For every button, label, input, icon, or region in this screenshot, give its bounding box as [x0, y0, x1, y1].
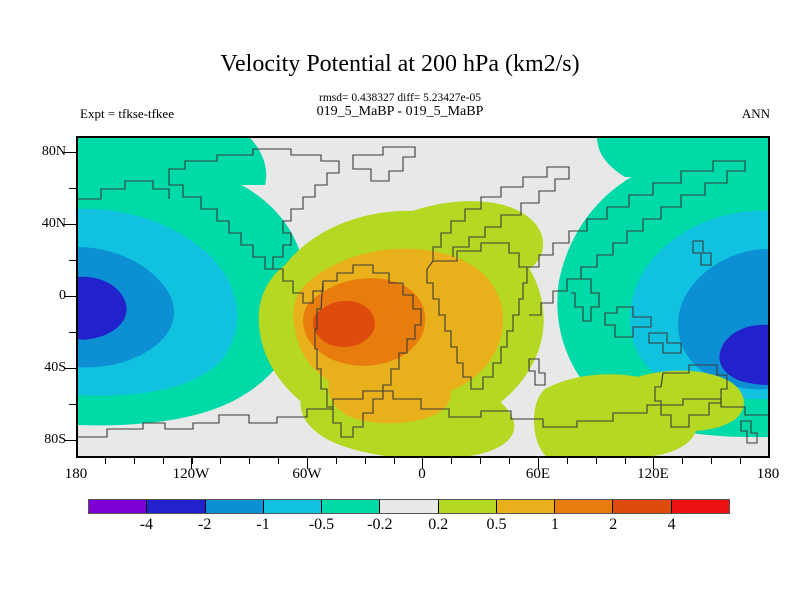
colorbar [88, 499, 730, 514]
xlabel-180w: 180 [65, 466, 88, 482]
xtick-minor [567, 457, 568, 464]
colorbar-tick-label: 0.2 [428, 516, 448, 534]
xtick-minor [278, 457, 279, 464]
velocity-potential-figure: Velocity Potential at 200 hPa (km2/s) rm… [0, 0, 800, 600]
xlabel-60e: 60E [526, 466, 550, 482]
ylabel-0: 0 [59, 289, 66, 303]
xlabel-120w: 120W [173, 466, 210, 482]
xtick-minor [596, 457, 597, 464]
ylabel-40n: 40N [42, 217, 66, 231]
season-label: ANN [742, 106, 770, 122]
ylabel-40s: 40S [44, 361, 66, 375]
colorbar-swatch [671, 500, 729, 513]
xlabel-60w: 60W [292, 466, 321, 482]
colorbar-tick-label: 2 [609, 516, 617, 534]
xlabel-180e: 180 [757, 466, 780, 482]
map-plot-area [76, 136, 770, 458]
xtick-minor [480, 457, 481, 464]
colorbar-swatch [554, 500, 612, 513]
colorbar-tick-label: 0.5 [487, 516, 507, 534]
colorbar-tick-label: -2 [198, 516, 211, 534]
xtick-minor [365, 457, 366, 464]
xlabel-0: 0 [418, 466, 426, 482]
xlabel-120e: 120E [637, 466, 669, 482]
colorbar-tick-label: 4 [668, 516, 676, 534]
experiment-label: Expt = tfkse-tfkee [80, 106, 174, 122]
colorbar-swatch [438, 500, 496, 513]
colorbar-tick-label: 1 [551, 516, 559, 534]
xtick-minor [740, 457, 741, 464]
ylabel-80n: 80N [42, 145, 66, 159]
xtick-minor [249, 457, 250, 464]
colorbar-swatch [205, 500, 263, 513]
colorbar-swatch [146, 500, 204, 513]
colorbar-swatch [89, 500, 146, 513]
xtick-minor [192, 457, 193, 464]
xtick-minor [220, 457, 221, 464]
xtick-minor [711, 457, 712, 464]
colorbar-tick-label: -0.2 [367, 516, 392, 534]
xtick-minor [105, 457, 106, 464]
ylabel-80s: 80S [44, 433, 66, 447]
xtick-minor [394, 457, 395, 464]
xtick-minor [336, 457, 337, 464]
xtick-minor [134, 457, 135, 464]
contour-pos-0p2-indian-b [626, 371, 744, 431]
contour-neg-0p2-north-left [77, 137, 266, 185]
colorbar-swatch [321, 500, 379, 513]
xtick-minor [163, 457, 164, 464]
xtick-minor [625, 457, 626, 464]
page-title: Velocity Potential at 200 hPa (km2/s) [0, 50, 800, 78]
ytick-60s [69, 404, 77, 405]
xtick-minor [682, 457, 683, 464]
colorbar-swatch [379, 500, 437, 513]
ytick-20n [69, 260, 77, 261]
colorbar-tick-label: -4 [140, 516, 153, 534]
colorbar-tick-label: -0.5 [309, 516, 334, 534]
xtick-minor [451, 457, 452, 464]
ytick-20s [69, 332, 77, 333]
colorbar-labels: -4 -2 -1 -0.5 -0.2 0.2 0.5 1 2 4 [88, 516, 730, 536]
xtick-minor [509, 457, 510, 464]
contour-map [77, 137, 769, 457]
colorbar-swatch [496, 500, 554, 513]
colorbar-swatch [612, 500, 670, 513]
colorbar-tick-label: -1 [256, 516, 269, 534]
colorbar-swatch [263, 500, 321, 513]
ytick-60n [69, 188, 77, 189]
